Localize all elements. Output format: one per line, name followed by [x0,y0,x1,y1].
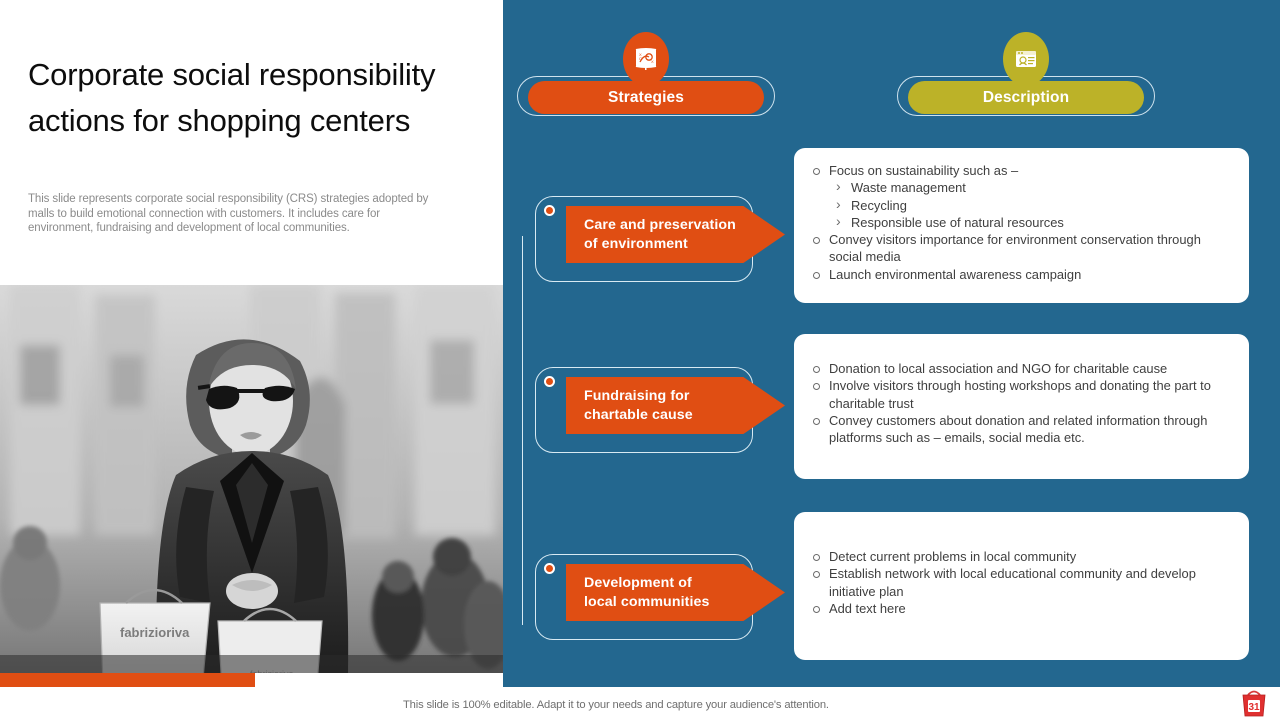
svg-text:X: X [651,59,654,64]
description-card-2: Donation to local association and NGO fo… [794,334,1249,479]
strategy-label-line1: Fundraising for [584,387,785,406]
description-card-3: Detect current problems in local communi… [794,512,1249,660]
strategy-label-line1: Development of [584,574,785,593]
svg-text:fabrizioriva: fabrizioriva [120,625,190,640]
list-item: Focus on sustainability such as – [808,162,1231,179]
page-subtitle: This slide represents corporate social r… [28,192,432,236]
list-item: Detect current problems in local communi… [808,548,1231,565]
strategy-marker-dot [544,563,555,574]
list-item: Recycling [808,197,1231,214]
list-item: Convey customers about donation and rela… [808,412,1231,447]
strategy-row-2: Fundraising for chartable cause [517,367,797,453]
content-panel: X O X Strategies [503,0,1280,687]
left-pane: Corporate social responsibility actions … [0,0,503,720]
strategy-label-line2: local communities [584,593,785,612]
bullet-list: Detect current problems in local communi… [808,548,1231,617]
strategy-row-3: Development of local communities [517,554,797,640]
list-item: Involve visitors through hosting worksho… [808,377,1231,412]
hero-photo: fabrizioriva fabrizioriva fabrizioriva [0,285,503,673]
strategy-label-line2: of environment [584,235,785,254]
profile-document-icon [1003,32,1049,86]
strategy-arrow-fundraising[interactable]: Fundraising for chartable cause [566,377,785,434]
list-item: Launch environmental awareness campaign [808,266,1231,283]
strategy-board-icon: X O X [623,32,669,86]
column-header-description: Description [897,60,1155,116]
list-item: Establish network with local educational… [808,565,1231,600]
shopping-bag-icon: 31 [1240,688,1268,718]
strategy-label-line2: chartable cause [584,406,785,425]
description-card-1: Focus on sustainability such as – Waste … [794,148,1249,303]
strategy-arrow-development[interactable]: Development of local communities [566,564,785,621]
list-item: Waste management [808,179,1231,196]
column-header-strategies: X O X Strategies [517,60,775,116]
badge-number: 31 [1248,702,1260,713]
bullet-list: Donation to local association and NGO fo… [808,360,1231,446]
strategy-row-1: Care and preservation of environment [517,196,797,282]
list-item: Convey visitors importance for environme… [808,231,1231,266]
strategy-label-line1: Care and preservation [584,216,785,235]
strategy-marker-dot [544,205,555,216]
strategy-marker-dot [544,376,555,387]
svg-text:O: O [639,56,642,61]
list-item: Donation to local association and NGO fo… [808,360,1231,377]
list-item: Add text here [808,600,1231,617]
bullet-list: Focus on sustainability such as – Waste … [808,162,1231,283]
page-title: Corporate social responsibility actions … [28,52,478,144]
footer: This slide is 100% editable. Adapt it to… [0,687,1280,720]
strategy-arrow-care-and-preservation[interactable]: Care and preservation of environment [566,206,785,263]
list-item: Responsible use of natural resources [808,214,1231,231]
footer-note: This slide is 100% editable. Adapt it to… [403,699,829,711]
slide-root: Corporate social responsibility actions … [0,0,1280,720]
